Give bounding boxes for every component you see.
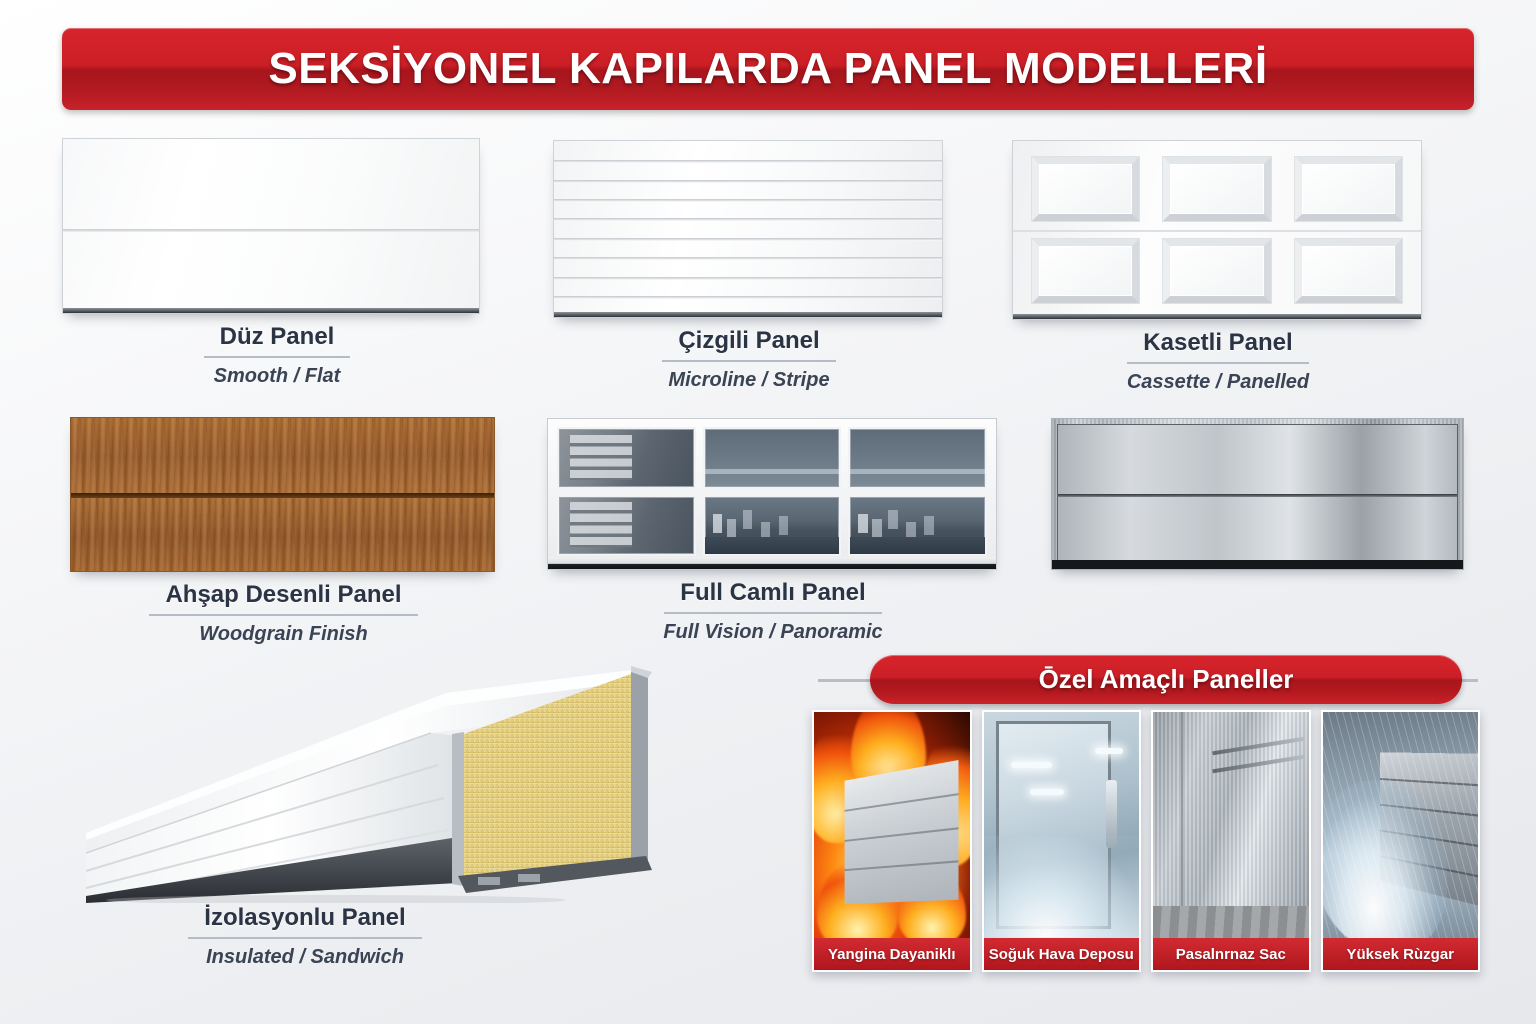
panel-card-fullvision: Full Camlı Panel Full Vision / Panoramic [547,418,999,644]
panel-groove [554,296,942,299]
special-panel-label-stainless: Pasalnrnaz Sac [1151,938,1311,972]
glass-row [557,427,987,489]
special-panel-card-wind[interactable]: Yüksek Rùzgar [1321,710,1481,972]
special-panel-card-cold[interactable]: Soğuk Hava Deposu [982,710,1142,972]
label-text: Yangina Dayaniklı [828,946,956,963]
panel-seam [1058,494,1457,497]
fire-rated-door-image [812,710,972,938]
infographic-canvas: SEKSİYONEL KAPILARDA PANEL MODELLERİ Düz… [0,0,1536,1024]
high-wind-door-image [1321,710,1481,938]
panel-caption: İzolasyonlu Panel Insulated / Sandwich [90,904,520,969]
cold-storage-door-image [982,710,1142,938]
steel-slab [1057,424,1458,564]
panel-card-microline: Çizgili Panel Microline / Stripe [553,140,945,392]
panel-name-tr: Düz Panel [204,323,351,358]
panel-card-woodgrain: Ahşap Desenli Panel Woodgrain Finish [70,417,497,646]
panel-caption: Çizgili Panel Microline / Stripe [553,327,945,392]
panel-card-insulated: İzolasyonlu Panel Insulated / Sandwich [90,895,520,969]
cassette-panel-image [1012,140,1422,320]
rain-overlay [1323,712,1479,938]
label-text: Pasalnrnaz Sac [1176,946,1286,963]
cassette-cell [1285,150,1412,228]
panel-name-tr: Kasetli Panel [1127,329,1308,364]
panel-seam [1013,230,1421,232]
panel-name-en: Cassette / Panelled [1012,371,1424,394]
panel-name-tr: Full Camlı Panel [664,579,881,614]
glass-pane [703,427,842,489]
glass-pane [557,495,696,557]
special-panels-grid: Yangina Dayaniklı Soğuk Hava Deposu [812,710,1480,972]
special-section-banner: Ōzel Amaçlı Paneller [870,655,1462,704]
panel-seam [63,229,479,232]
panel-bottom-edge [63,308,479,313]
glass-pane [557,427,696,489]
frost-overlay [984,836,1140,938]
panel-name-en: Woodgrain Finish [70,623,497,646]
panel-bottom-edge [548,557,996,569]
special-panel-label-fire: Yangina Dayaniklı [812,938,972,972]
panel-name-tr: Çizgili Panel [662,327,835,362]
panel-groove [554,160,942,163]
smooth-panel-image [62,138,480,314]
insulated-panel-image [86,648,686,903]
panel-name-en: Full Vision / Panoramic [547,621,999,644]
cassette-cell [1153,150,1280,228]
microline-panel-image [553,140,943,318]
special-section-title: Ōzel Amaçlı Paneller [1039,664,1294,695]
special-panel-label-wind: Yüksek Rùzgar [1321,938,1481,972]
door-edge [1181,712,1183,906]
label-text: Soğuk Hava Deposu [989,946,1134,963]
fullvision-panel-image [547,418,997,570]
panel-groove [554,257,942,260]
stainless-panel-image [1051,418,1464,570]
panel-name-tr: İzolasyonlu Panel [188,904,421,939]
glass-pane [703,495,842,557]
panel-groove [554,180,942,183]
panel-card-stainless [1051,418,1466,570]
glass-pane [848,495,987,557]
panel-caption: Full Camlı Panel Full Vision / Panoramic [547,579,999,644]
woodgrain-panel-image [70,417,495,572]
panel-bottom-edge [1013,314,1421,319]
special-panel-card-stainless[interactable]: Pasalnrnaz Sac [1151,710,1311,972]
door-leaf [845,760,959,904]
panel-card-smooth: Düz Panel Smooth / Flat [62,138,492,388]
panel-name-en: Microline / Stripe [553,369,945,392]
page-title: SEKSİYONEL KAPILARDA PANEL MODELLERİ [268,44,1267,94]
glass-pane [848,427,987,489]
panel-bottom-edge [1052,560,1463,569]
panel-card-cassette: Kasetli Panel Cassette / Panelled [1012,140,1424,394]
panel-name-tr: Ahşap Desenli Panel [149,581,417,616]
glass-row [557,495,987,557]
cassette-cell [1022,232,1149,310]
panel-bottom-edge [554,312,942,317]
panel-seam [71,493,494,498]
special-panel-card-fire[interactable]: Yangina Dayaniklı [812,710,972,972]
page-title-banner: SEKSİYONEL KAPILARDA PANEL MODELLERİ [62,28,1474,110]
label-text: Yüksek Rùzgar [1346,946,1454,963]
panel-name-en: Smooth / Flat [62,365,492,388]
panel-groove [554,199,942,202]
cassette-cell [1153,232,1280,310]
panel-caption: Düz Panel Smooth / Flat [62,323,492,388]
floor-surface [1153,906,1309,938]
panel-caption: Kasetli Panel Cassette / Panelled [1012,329,1424,394]
cassette-cell [1022,150,1149,228]
panel-name-en: Insulated / Sandwich [90,946,520,969]
panel-groove [554,218,942,221]
panel-groove [554,277,942,280]
panel-groove [554,238,942,241]
insulated-panel-cutaway-svg [86,648,686,903]
cassette-cell [1285,232,1412,310]
panel-caption: Ahşap Desenli Panel Woodgrain Finish [70,581,497,646]
stainless-door-image [1151,710,1311,938]
special-panel-label-cold: Soğuk Hava Deposu [982,938,1142,972]
